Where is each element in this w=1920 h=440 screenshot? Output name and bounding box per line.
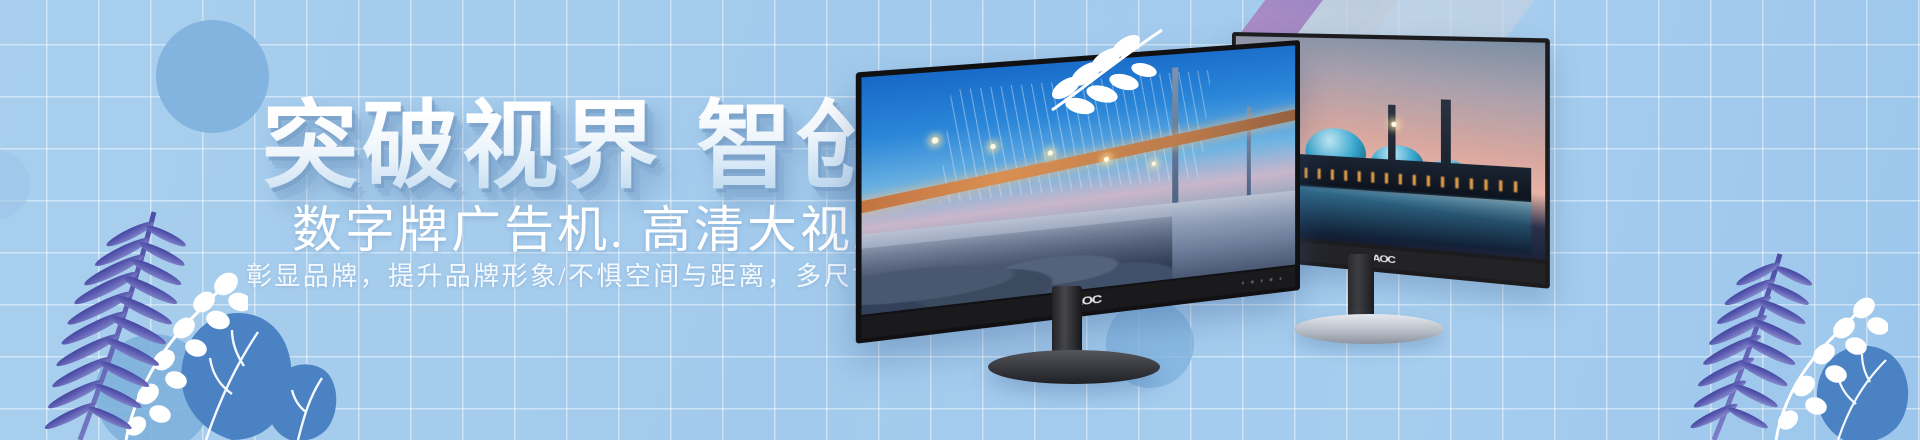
headline-part1: 突破视界 <box>262 93 662 200</box>
tagline: 彰显品牌，提升品牌形象/不惧空间与距离，多尺寸选择 <box>246 256 937 293</box>
front-monitor-base <box>988 350 1160 384</box>
fern-frond-right-icon <box>1662 252 1852 440</box>
back-monitor-neck <box>1348 254 1374 322</box>
bridge-light-1 <box>931 137 938 144</box>
subtitle: 数字牌广告机. 高清大视野 <box>292 190 906 262</box>
osd-button-dots[interactable] <box>1241 277 1281 284</box>
fern-frond-left-icon <box>22 208 212 440</box>
promo-banner: 突破视界智创未来 数字牌广告机. 高清大视野 彰显品牌，提升品牌形象/不惧空间与… <box>0 0 1920 440</box>
front-monitor-neck <box>1052 286 1082 360</box>
aoc-logo-back: AOC <box>1372 253 1394 266</box>
bridge-light-5 <box>1151 161 1155 166</box>
white-leaf-sprig-top-icon <box>1036 18 1176 122</box>
